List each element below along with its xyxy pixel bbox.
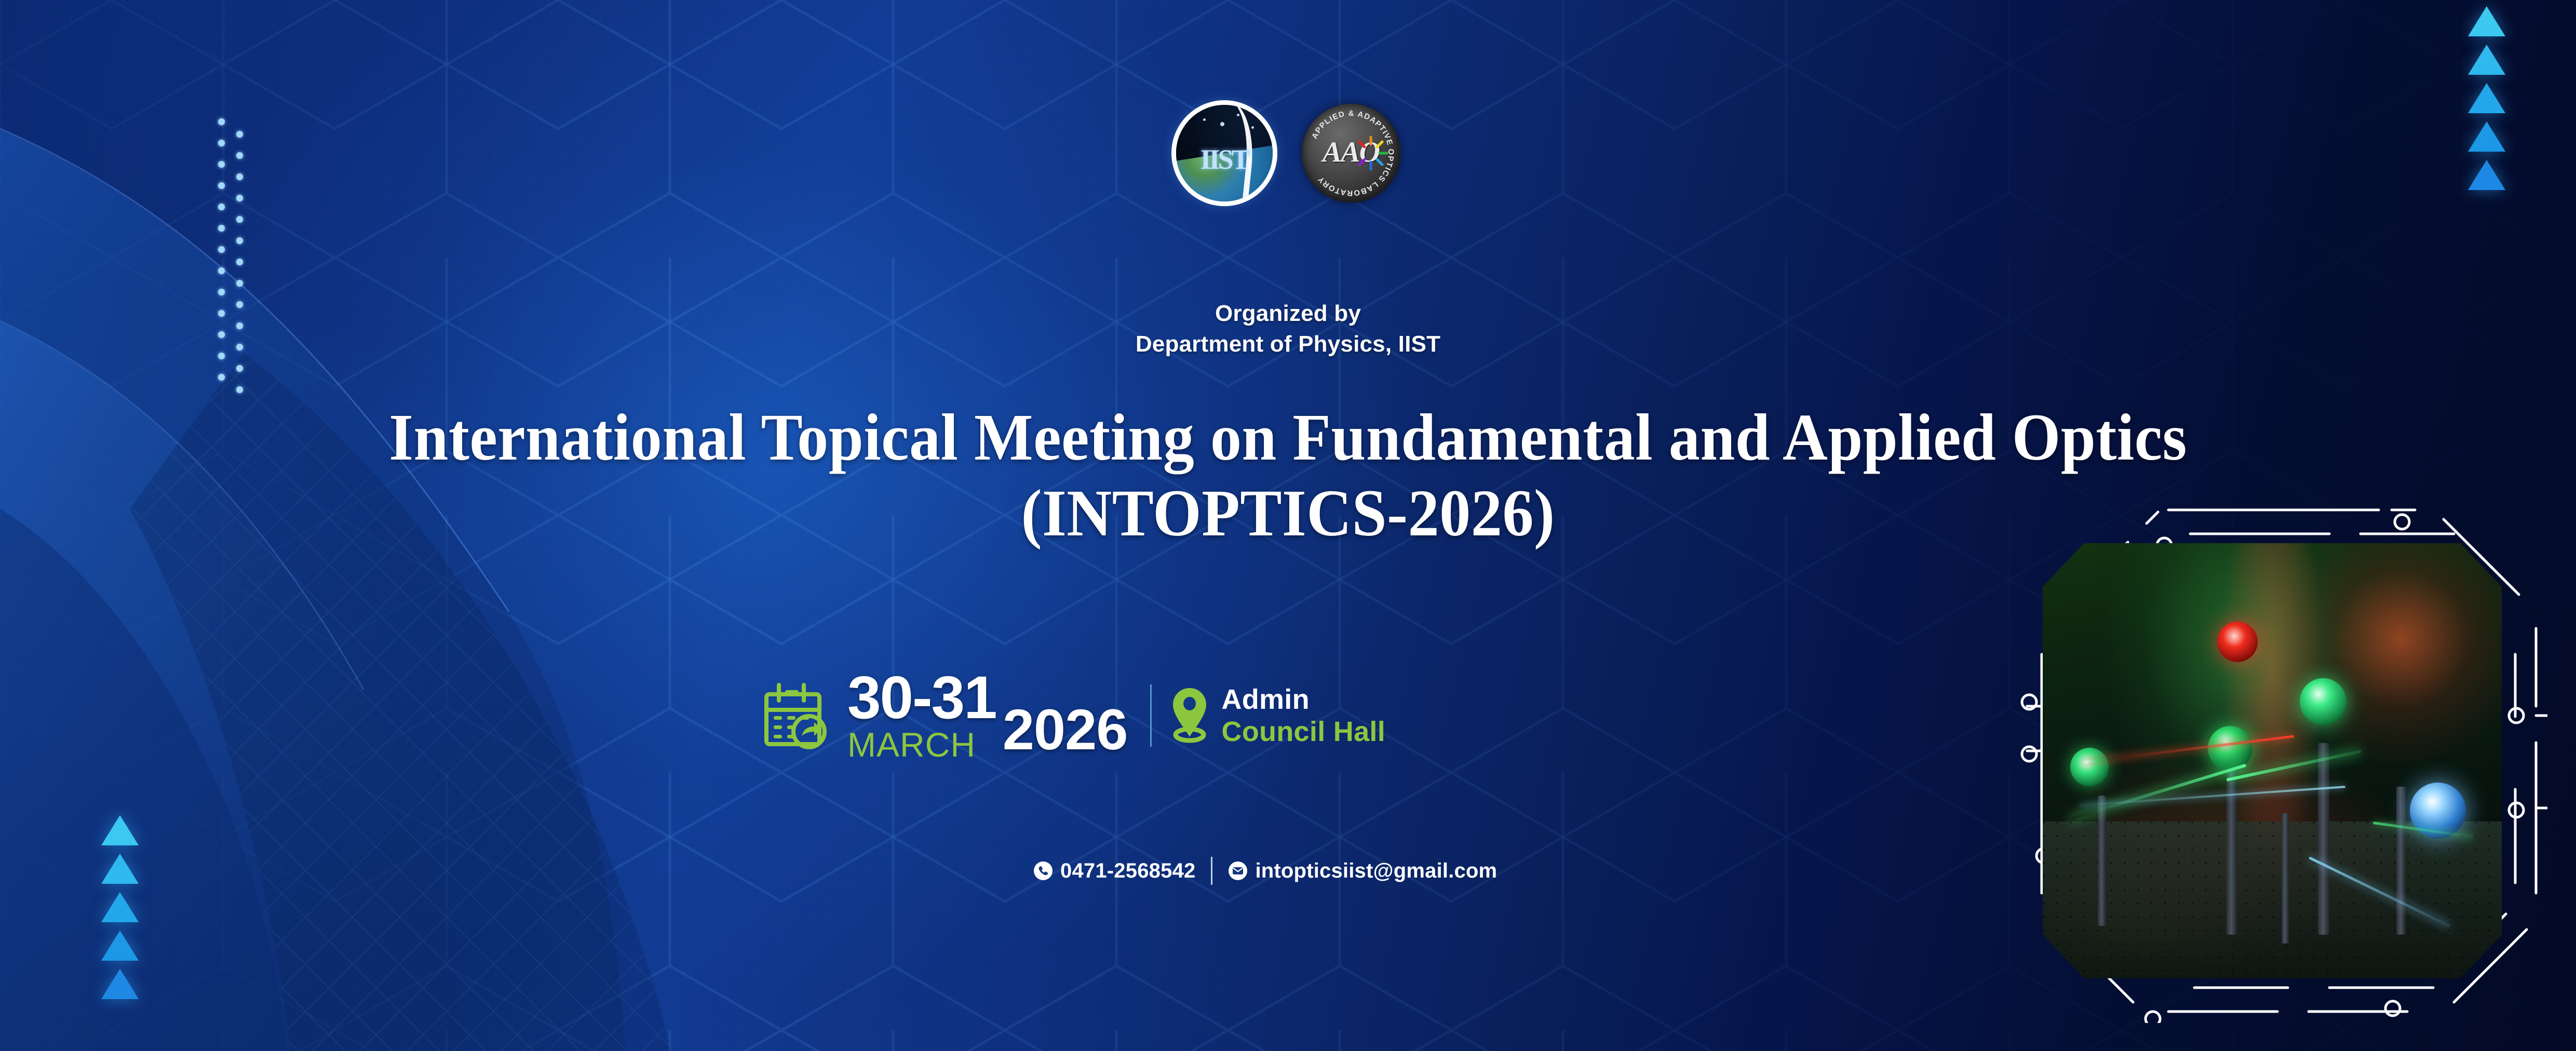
organizer-name: Department of Physics, IIST [0, 329, 2576, 360]
event-month: MARCH [847, 727, 976, 762]
iist-logo-mark: IIST [1176, 143, 1273, 176]
conference-banner: IIST APPLIED & ADAPTIVE OPTICS LABORATOR… [0, 0, 2576, 1051]
details-divider [1150, 684, 1152, 747]
organized-by-block: Organized by Department of Physics, IIST [0, 299, 2576, 360]
venue-line-2: Council Hall [1221, 716, 1385, 748]
rainbow-rays-icon [1352, 134, 1390, 172]
event-title-line-1: International Topical Meeting on Fundame… [77, 400, 2499, 476]
organized-by-label: Organized by [0, 299, 2576, 329]
phone-icon [1033, 861, 1053, 881]
event-details-strip: 30-31 MARCH 2026 Admin Council Hall [763, 670, 1385, 762]
event-venue-group: Admin Council Hall [1171, 683, 1385, 748]
phone-number: 0471-2568542 [1060, 859, 1195, 883]
email-group[interactable]: intopticsiist@gmail.com [1228, 859, 1497, 883]
lab-photo-frame [1997, 498, 2547, 1023]
email-address: intopticsiist@gmail.com [1255, 859, 1497, 883]
calendar-share-icon [763, 682, 830, 749]
laser-optics-lab-photo [2043, 543, 2502, 978]
phone-group[interactable]: 0471-2568542 [1033, 859, 1195, 883]
triangle-stack-bottom-left [101, 815, 139, 999]
optical-table [2043, 821, 2502, 978]
iist-logo: IIST [1176, 105, 1273, 201]
event-year: 2026 [1003, 702, 1128, 762]
logo-row: IIST APPLIED & ADAPTIVE OPTICS LABORATOR… [0, 104, 2576, 203]
email-icon [1228, 861, 1248, 881]
event-day-range: 30-31 [847, 670, 996, 725]
contact-row: 0471-2568542 intopticsiist@gmail.com [1033, 857, 1497, 885]
aao-lab-logo: APPLIED & ADAPTIVE OPTICS LABORATORY AAO [1302, 104, 1400, 203]
contact-divider [1211, 857, 1212, 885]
event-date-group: 30-31 MARCH 2026 [847, 670, 1127, 762]
venue-line-1: Admin [1221, 683, 1385, 716]
location-pin-icon [1171, 687, 1208, 744]
